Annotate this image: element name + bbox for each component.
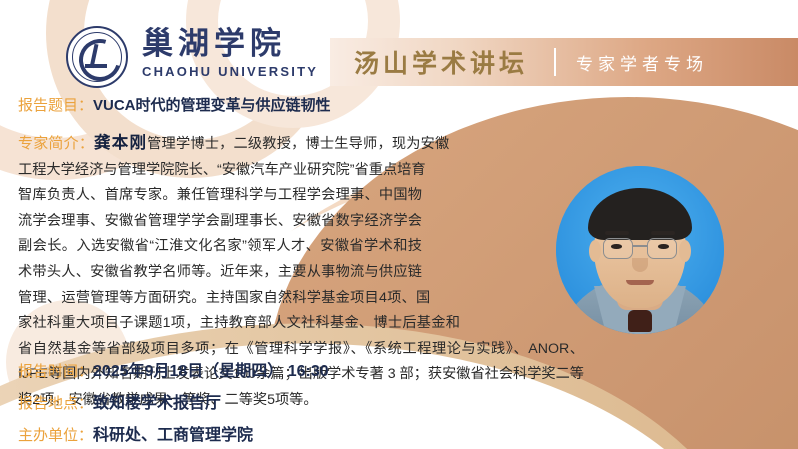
report-organizer-row: 主办单位： 科研处、工商管理学院 [18, 421, 253, 445]
report-organizer-label: 主办单位： [18, 424, 93, 445]
portrait-glasses-right [647, 238, 677, 259]
portrait-eyebrow-right [651, 231, 675, 235]
portrait-mouth [626, 280, 654, 285]
portrait-glasses-left [603, 238, 633, 259]
portrait-tie [628, 310, 652, 332]
report-time-value: 2025年9月18日（星期四） 16:30 [93, 357, 329, 381]
report-time-label: 报告时间： [18, 360, 93, 381]
report-organizer-value: 科研处、工商管理学院 [93, 421, 253, 445]
report-time-row: 报告时间： 2025年9月18日（星期四） 16:30 [18, 357, 329, 381]
portrait-glasses-bridge [633, 245, 647, 247]
portrait-eyebrow-left [605, 231, 629, 235]
speaker-bio-label: 专家简介： [18, 135, 94, 152]
report-place-label: 报告地点： [18, 392, 93, 413]
portrait-eye-right [658, 244, 669, 249]
speaker-name: 龚本刚 [94, 134, 147, 152]
poster-root: 巢湖学院 CHAOHU UNIVERSITY 汤山学术讲坛 专家学者专场 [0, 0, 798, 449]
report-title-value: VUCA时代的管理变革与供应链韧性 [93, 94, 331, 115]
portrait-ear-right [679, 240, 691, 262]
speaker-portrait [556, 166, 724, 334]
report-title-label: 报告题目： [18, 94, 93, 115]
report-title-row: 报告题目： VUCA时代的管理变革与供应链韧性 [18, 94, 331, 115]
portrait-eye-left [611, 244, 622, 249]
report-place-value: 致知楼学术报告厅 [93, 389, 221, 413]
portrait-ear-left [589, 240, 601, 262]
report-place-row: 报告地点： 致知楼学术报告厅 [18, 389, 221, 413]
